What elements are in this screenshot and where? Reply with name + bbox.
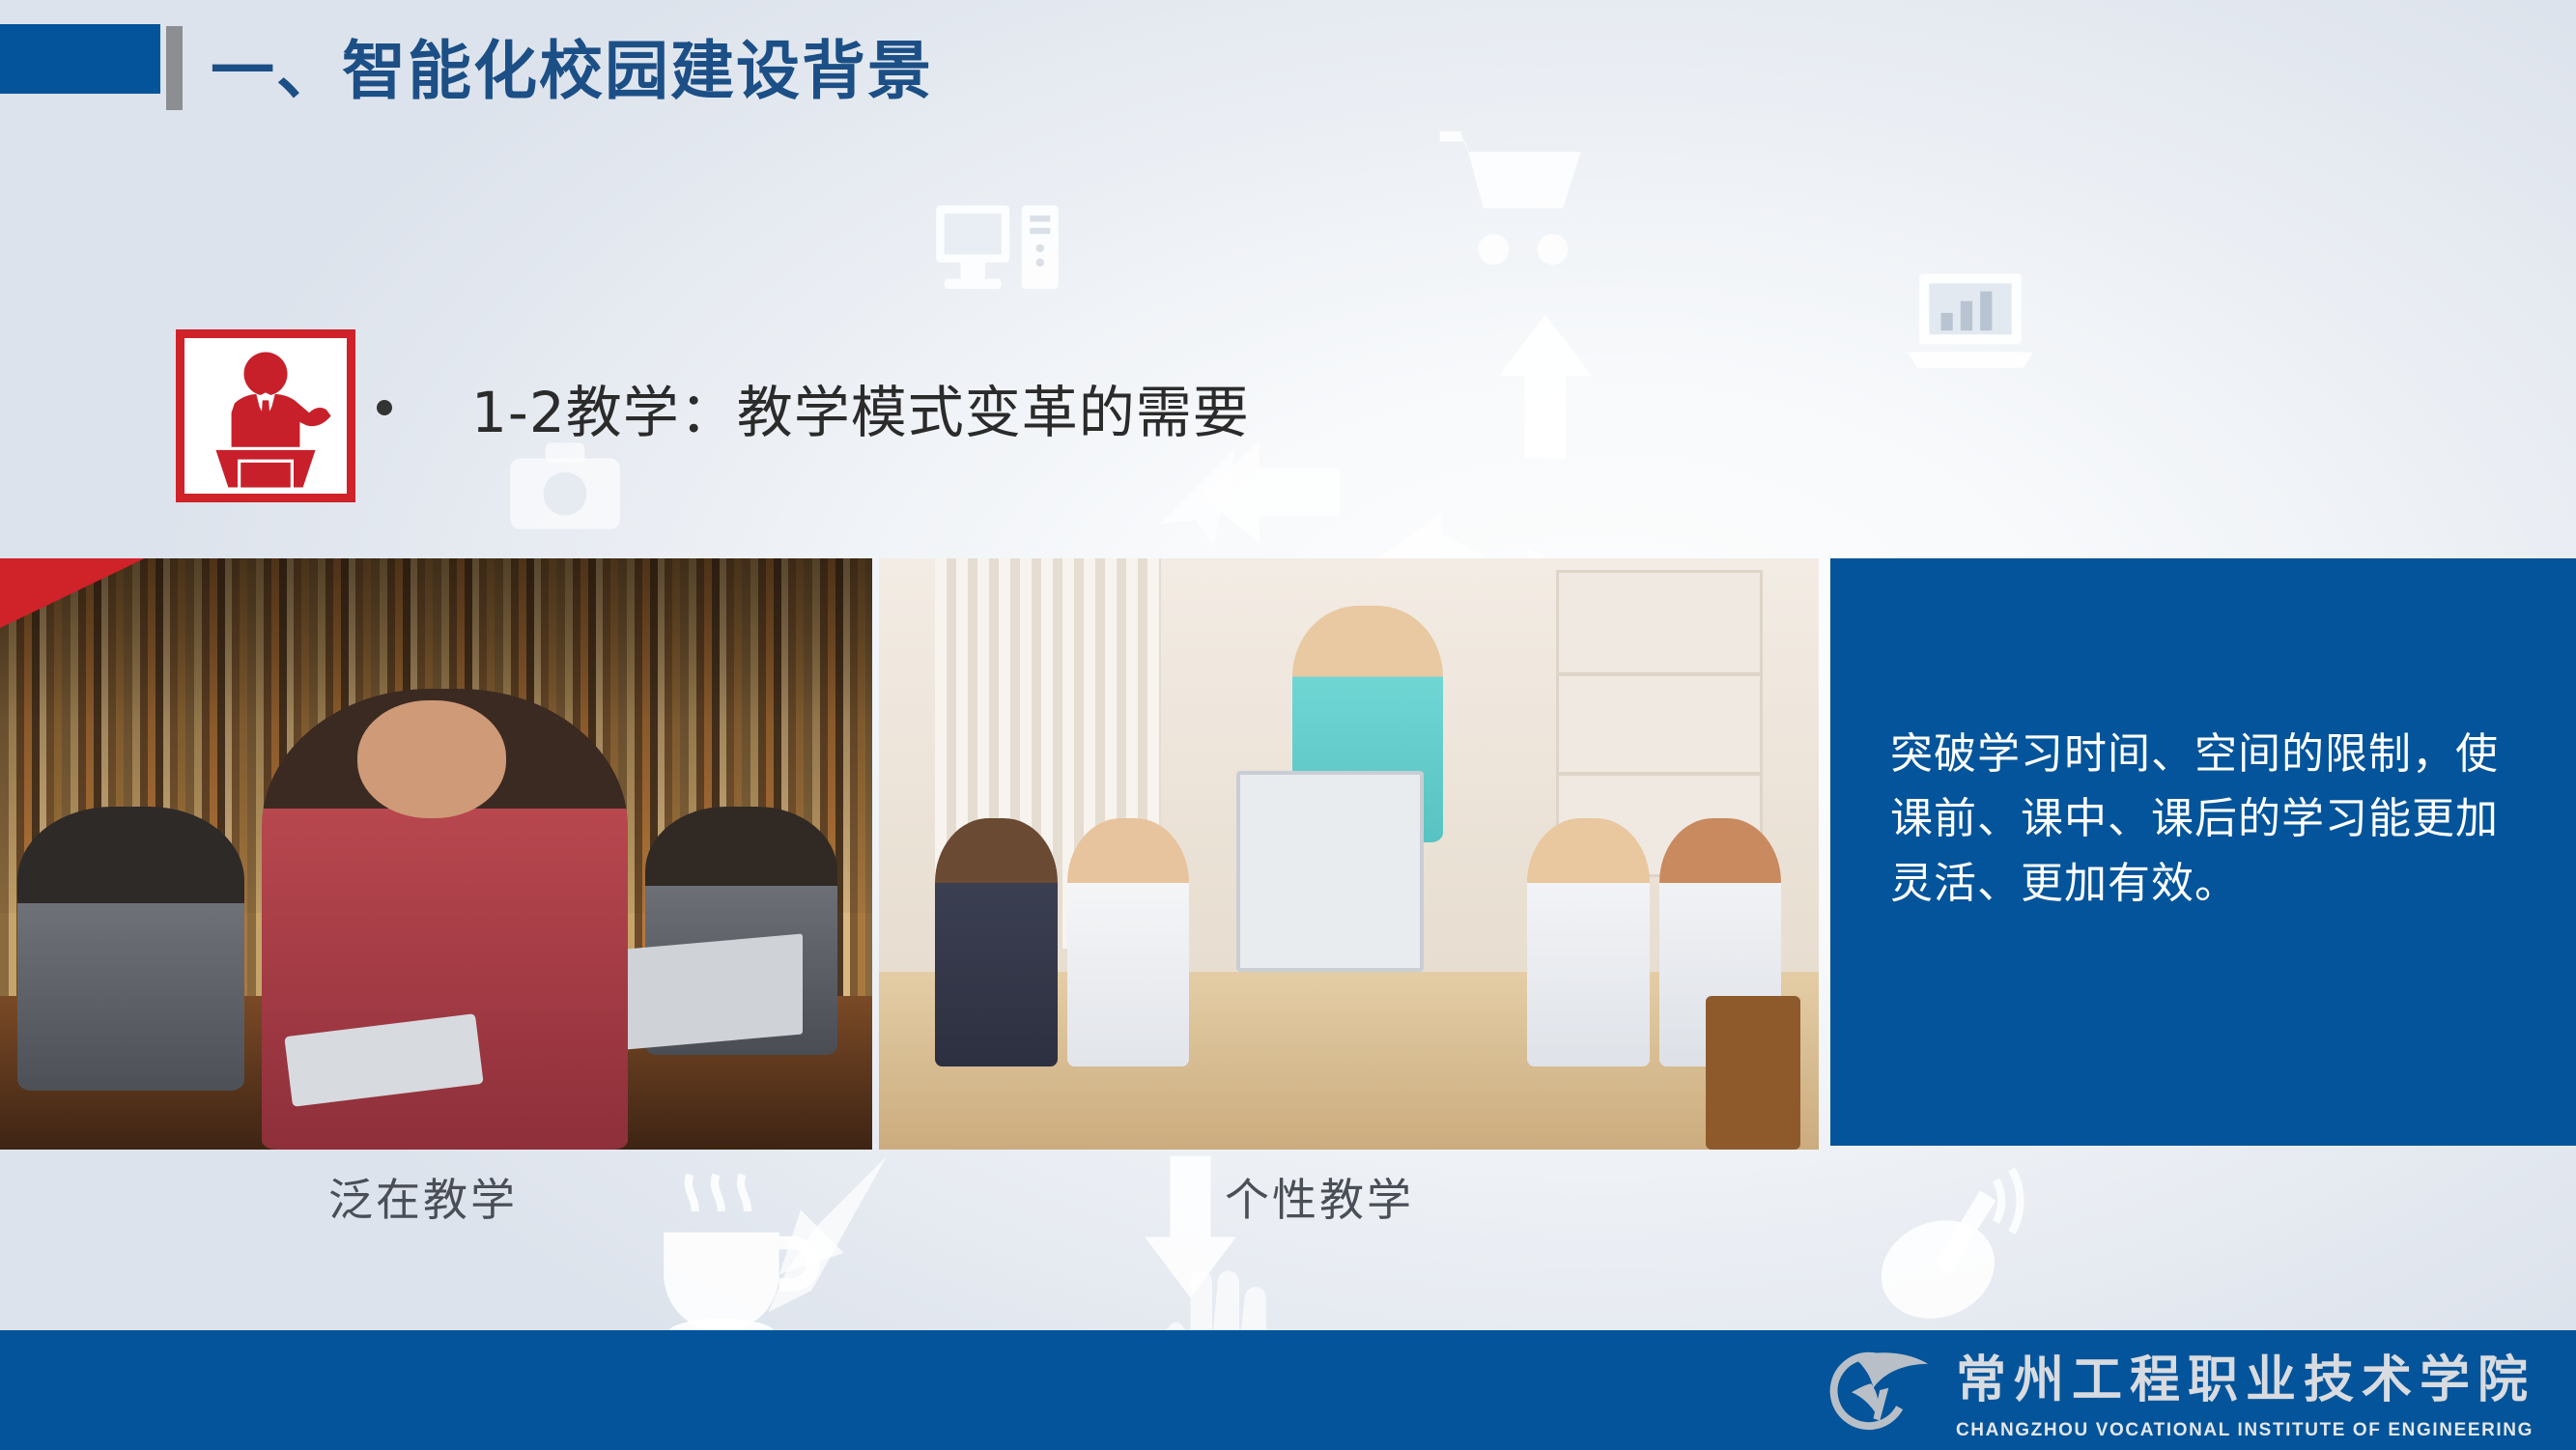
page-title: 一、智能化校园建设背景	[211, 19, 933, 112]
satellite-dish-icon	[1864, 1164, 2038, 1338]
photo-caption-2: 个性教学	[1225, 1165, 1414, 1229]
swoosh-c-logo-icon	[1821, 1340, 1935, 1440]
callout-text: 突破学习时间、空间的限制，使课前、课中、课后的学习能更加灵活、更加有效。	[1890, 723, 2508, 917]
lecturer-podium-icon	[176, 329, 355, 502]
desktop-computer-icon	[932, 193, 1062, 324]
presentation-slide: 一、智能化校园建设背景 1-2教学：教学模式变革的需要	[0, 0, 2576, 1450]
header-accent-bar	[166, 26, 183, 110]
callout-panel: 突破学习时间、空间的限制，使课前、课中、课后的学习能更加灵活、更加有效。	[1830, 558, 2576, 1146]
laptop-chart-icon	[1908, 266, 2033, 372]
diagonal-arrow-icon	[763, 1150, 903, 1319]
photo-caption-1: 泛在教学	[328, 1165, 518, 1229]
header-accent-block	[0, 24, 160, 94]
footer-bar: 常州工程职业技术学院 CHANGZHOU VOCATIONAL INSTITUT…	[0, 1330, 2576, 1450]
bullet-row: 1-2教学：教学模式变革的需要	[377, 359, 1536, 456]
institution-name-en: CHANGZHOU VOCATIONAL INSTITUTE OF ENGINE…	[1956, 1420, 2535, 1441]
institution-name-block: 常州工程职业技术学院 CHANGZHOU VOCATIONAL INSTITUT…	[1956, 1339, 2535, 1441]
institution-logo: 常州工程职业技术学院 CHANGZHOU VOCATIONAL INSTITUT…	[1821, 1339, 2535, 1441]
coffee-cup-icon	[637, 1164, 821, 1348]
bullet-label: 1-2教学：教学模式变革的需要	[471, 367, 1250, 448]
bullet-marker-icon	[377, 400, 392, 415]
library-study-photo	[0, 558, 872, 1150]
shopping-cart-icon	[1430, 116, 1594, 280]
institution-name-cn: 常州工程职业技术学院	[1956, 1339, 2535, 1411]
classroom-group-photo	[879, 558, 1819, 1150]
